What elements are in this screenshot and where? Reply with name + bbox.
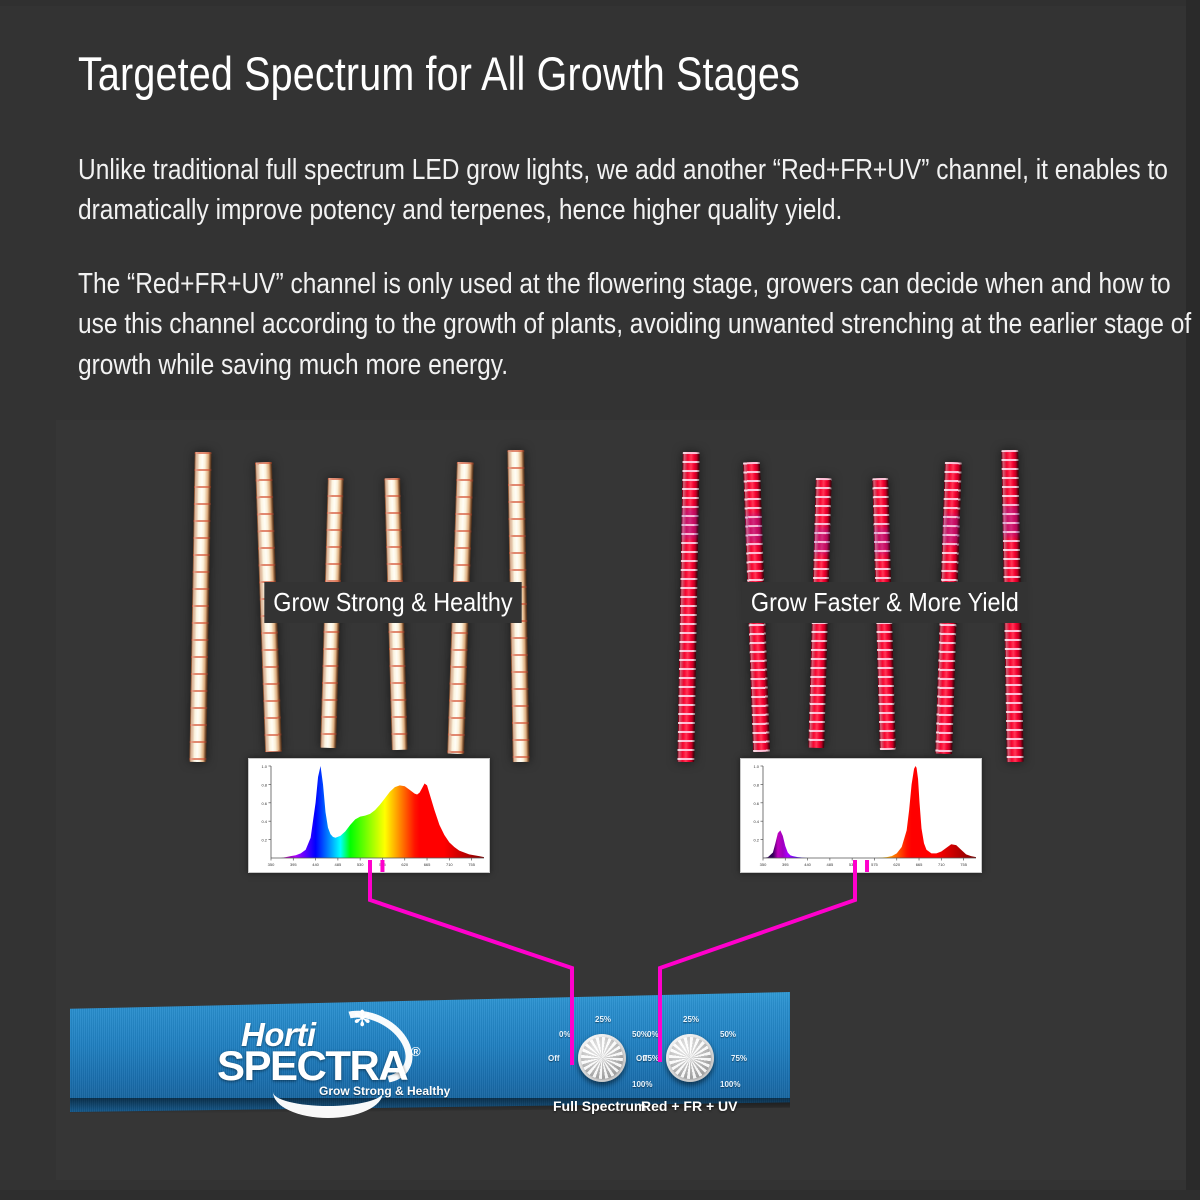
svg-text:665: 665 <box>424 862 431 867</box>
svg-text:0.8: 0.8 <box>261 782 267 787</box>
knob-scale-25: 25% <box>683 1015 699 1024</box>
knob-group-red-fr-uv: Off 0% 25% 50% 75% 100% Red + FR + UV <box>636 1008 766 1108</box>
svg-text:440: 440 <box>312 862 319 867</box>
knob-red-fr-uv[interactable] <box>666 1034 714 1082</box>
svg-text:530: 530 <box>357 862 364 867</box>
svg-text:485: 485 <box>335 862 342 867</box>
svg-text:395: 395 <box>290 862 297 867</box>
svg-text:395: 395 <box>782 862 789 867</box>
poster-canvas: Targeted Spectrum for All Growth Stages … <box>0 0 1200 1200</box>
logo-registered-mark: ® <box>411 1044 421 1059</box>
svg-text:1.0: 1.0 <box>261 764 267 769</box>
knob-scale-75: 75% <box>731 1054 747 1063</box>
brand-logo: ✻ Horti SPECTRA ® Grow Strong & Healthy <box>215 1010 505 1100</box>
knob-label-red-fr-uv: Red + FR + UV <box>641 1098 737 1114</box>
knob-gloss <box>578 1034 626 1082</box>
caption-grow-strong-healthy: Grow Strong & Healthy <box>264 582 521 623</box>
svg-text:350: 350 <box>760 862 767 867</box>
frame-edge-top <box>0 0 1200 6</box>
knob-scale-off: Off <box>548 1054 560 1063</box>
page-title: Targeted Spectrum for All Growth Stages <box>78 46 968 101</box>
logo-tagline: Grow Strong & Healthy <box>319 1084 450 1098</box>
knob-scale-0: 0% <box>559 1030 571 1039</box>
svg-text:620: 620 <box>401 862 408 867</box>
svg-text:0.6: 0.6 <box>261 801 267 806</box>
spectrum-chart-red-fr-uv: 0.20.40.60.81.03503954404855305756206657… <box>740 758 982 873</box>
header-block: Targeted Spectrum for All Growth Stages <box>78 46 1138 101</box>
svg-text:0.6: 0.6 <box>753 801 759 806</box>
svg-text:0.2: 0.2 <box>753 838 759 843</box>
knob-scale-25: 25% <box>595 1015 611 1024</box>
spectrum-chart-full-spectrum: 0.20.40.60.81.03503954404855305756206657… <box>248 758 490 873</box>
caption-grow-faster-more-yield: Grow Faster & More Yield <box>742 582 1028 623</box>
svg-text:665: 665 <box>916 862 923 867</box>
knob-scale-0: 0% <box>647 1030 659 1039</box>
svg-text:0.4: 0.4 <box>261 819 267 824</box>
frame-edge-bottom <box>0 1190 1200 1200</box>
logo-star-icon: ✻ <box>353 1008 371 1030</box>
svg-text:755: 755 <box>960 862 967 867</box>
intro-paragraph-2: The “Red+FR+UV” channel is only used at … <box>78 264 1196 385</box>
knob-scale-off: Off <box>636 1054 648 1063</box>
logo-brand-bottom: SPECTRA <box>217 1042 407 1090</box>
control-panel: ✻ Horti SPECTRA ® Grow Strong & Healthy … <box>70 992 790 1112</box>
svg-text:620: 620 <box>893 862 900 867</box>
svg-text:575: 575 <box>871 862 878 867</box>
panel-top-highlight <box>70 992 790 999</box>
intro-paragraph-1: Unlike traditional full spectrum LED gro… <box>78 150 1196 231</box>
svg-text:350: 350 <box>268 862 275 867</box>
svg-text:0.8: 0.8 <box>753 782 759 787</box>
svg-text:530: 530 <box>849 862 856 867</box>
knob-gloss <box>666 1034 714 1082</box>
svg-text:0.2: 0.2 <box>261 838 267 843</box>
svg-text:710: 710 <box>938 862 945 867</box>
svg-text:485: 485 <box>827 862 834 867</box>
svg-text:710: 710 <box>446 862 453 867</box>
svg-text:440: 440 <box>804 862 811 867</box>
knob-scale-100: 100% <box>720 1080 740 1089</box>
knob-full-spectrum[interactable] <box>578 1034 626 1082</box>
knob-label-full-spectrum: Full Spectrum <box>553 1098 646 1114</box>
svg-text:755: 755 <box>468 862 475 867</box>
knob-scale-50: 50% <box>720 1030 736 1039</box>
svg-text:1.0: 1.0 <box>753 764 759 769</box>
svg-text:0.4: 0.4 <box>753 819 759 824</box>
